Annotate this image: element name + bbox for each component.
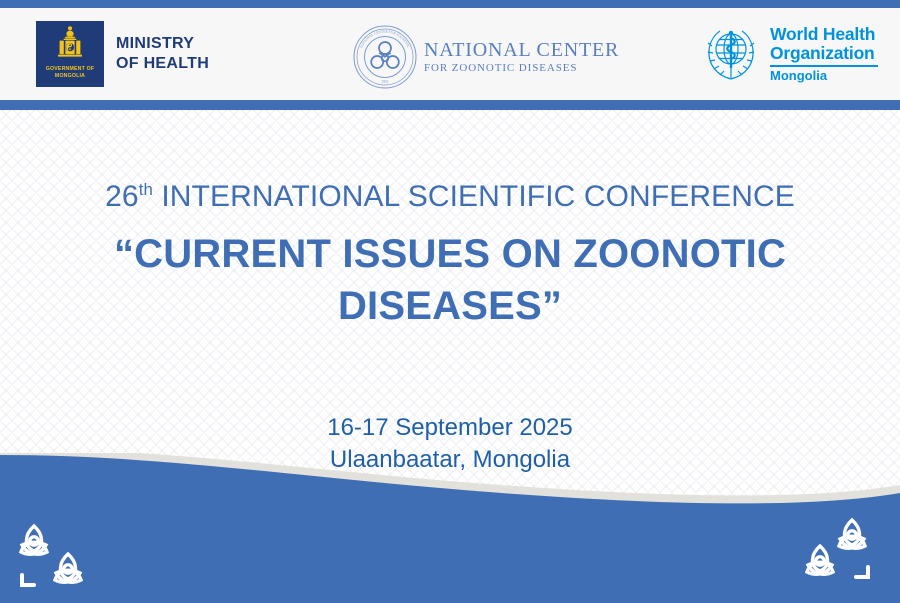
biohazard-seal-icon: 1951 NATIONAL CENTER FOR ZOONOTIC bbox=[352, 24, 418, 90]
celtic-triquetra-knot-icon-left bbox=[12, 517, 98, 595]
who-divider-rule bbox=[770, 65, 878, 67]
conference-title-slide: GOVERNMENT OF MONGOLIA MINISTRY OF HEALT… bbox=[0, 0, 900, 603]
ministry-of-health-logo: GOVERNMENT OF MONGOLIA MINISTRY OF HEALT… bbox=[36, 21, 209, 87]
page-title-line2: DISEASES” bbox=[60, 280, 840, 332]
ministry-name-line1: MINISTRY bbox=[116, 34, 209, 54]
bottom-wave-band bbox=[0, 453, 900, 603]
crest-text-line1: GOVERNMENT OF bbox=[46, 66, 94, 73]
national-center-name: NATIONAL CENTER FOR ZOONOTIC DISEASES bbox=[424, 39, 619, 75]
top-accent-bar bbox=[0, 0, 900, 8]
wave-blue-layer bbox=[0, 455, 900, 603]
national-center-name-line1: NATIONAL CENTER bbox=[424, 39, 619, 61]
conference-label: INTERNATIONAL SCIENTIFIC CONFERENCE bbox=[161, 180, 795, 213]
who-wordmark: World Health Organization Mongolia bbox=[770, 22, 878, 83]
event-date: 16-17 September 2025 bbox=[0, 412, 900, 444]
who-name-line2: Organization bbox=[770, 44, 878, 63]
mongolia-government-crest: GOVERNMENT OF MONGOLIA bbox=[36, 21, 104, 87]
ministry-name-line2: OF HEALTH bbox=[116, 54, 209, 74]
who-laurel-globe-asclepius-icon bbox=[700, 22, 762, 84]
svg-text:1951: 1951 bbox=[381, 80, 388, 84]
national-center-logo: 1951 NATIONAL CENTER FOR ZOONOTIC NATION… bbox=[352, 24, 619, 90]
page-title: “CURRENT ISSUES ON ZOONOTIC DISEASES” bbox=[60, 228, 840, 332]
logo-row: GOVERNMENT OF MONGOLIA MINISTRY OF HEALT… bbox=[0, 8, 900, 100]
page-title-line1: “CURRENT ISSUES ON ZOONOTIC bbox=[60, 228, 840, 280]
celtic-triquetra-knot-icon-right bbox=[796, 511, 878, 585]
who-country-label: Mongolia bbox=[770, 69, 878, 83]
ministry-of-health-name: MINISTRY OF HEALTH bbox=[116, 34, 209, 74]
conference-ordinal-line: 26th INTERNATIONAL SCIENTIFIC CONFERENCE bbox=[0, 178, 900, 216]
conference-ordinal-suffix: th bbox=[139, 180, 153, 199]
conference-number: 26 bbox=[105, 180, 139, 213]
crest-text-line2: MONGOLIA bbox=[46, 73, 94, 80]
header-divider-bar bbox=[0, 100, 900, 110]
national-center-name-line2: FOR ZOONOTIC DISEASES bbox=[424, 61, 619, 75]
who-name-line1: World Health bbox=[770, 25, 878, 44]
mongolia-soyombo-crest-icon bbox=[50, 25, 90, 65]
who-logo: World Health Organization Mongolia bbox=[700, 22, 878, 84]
